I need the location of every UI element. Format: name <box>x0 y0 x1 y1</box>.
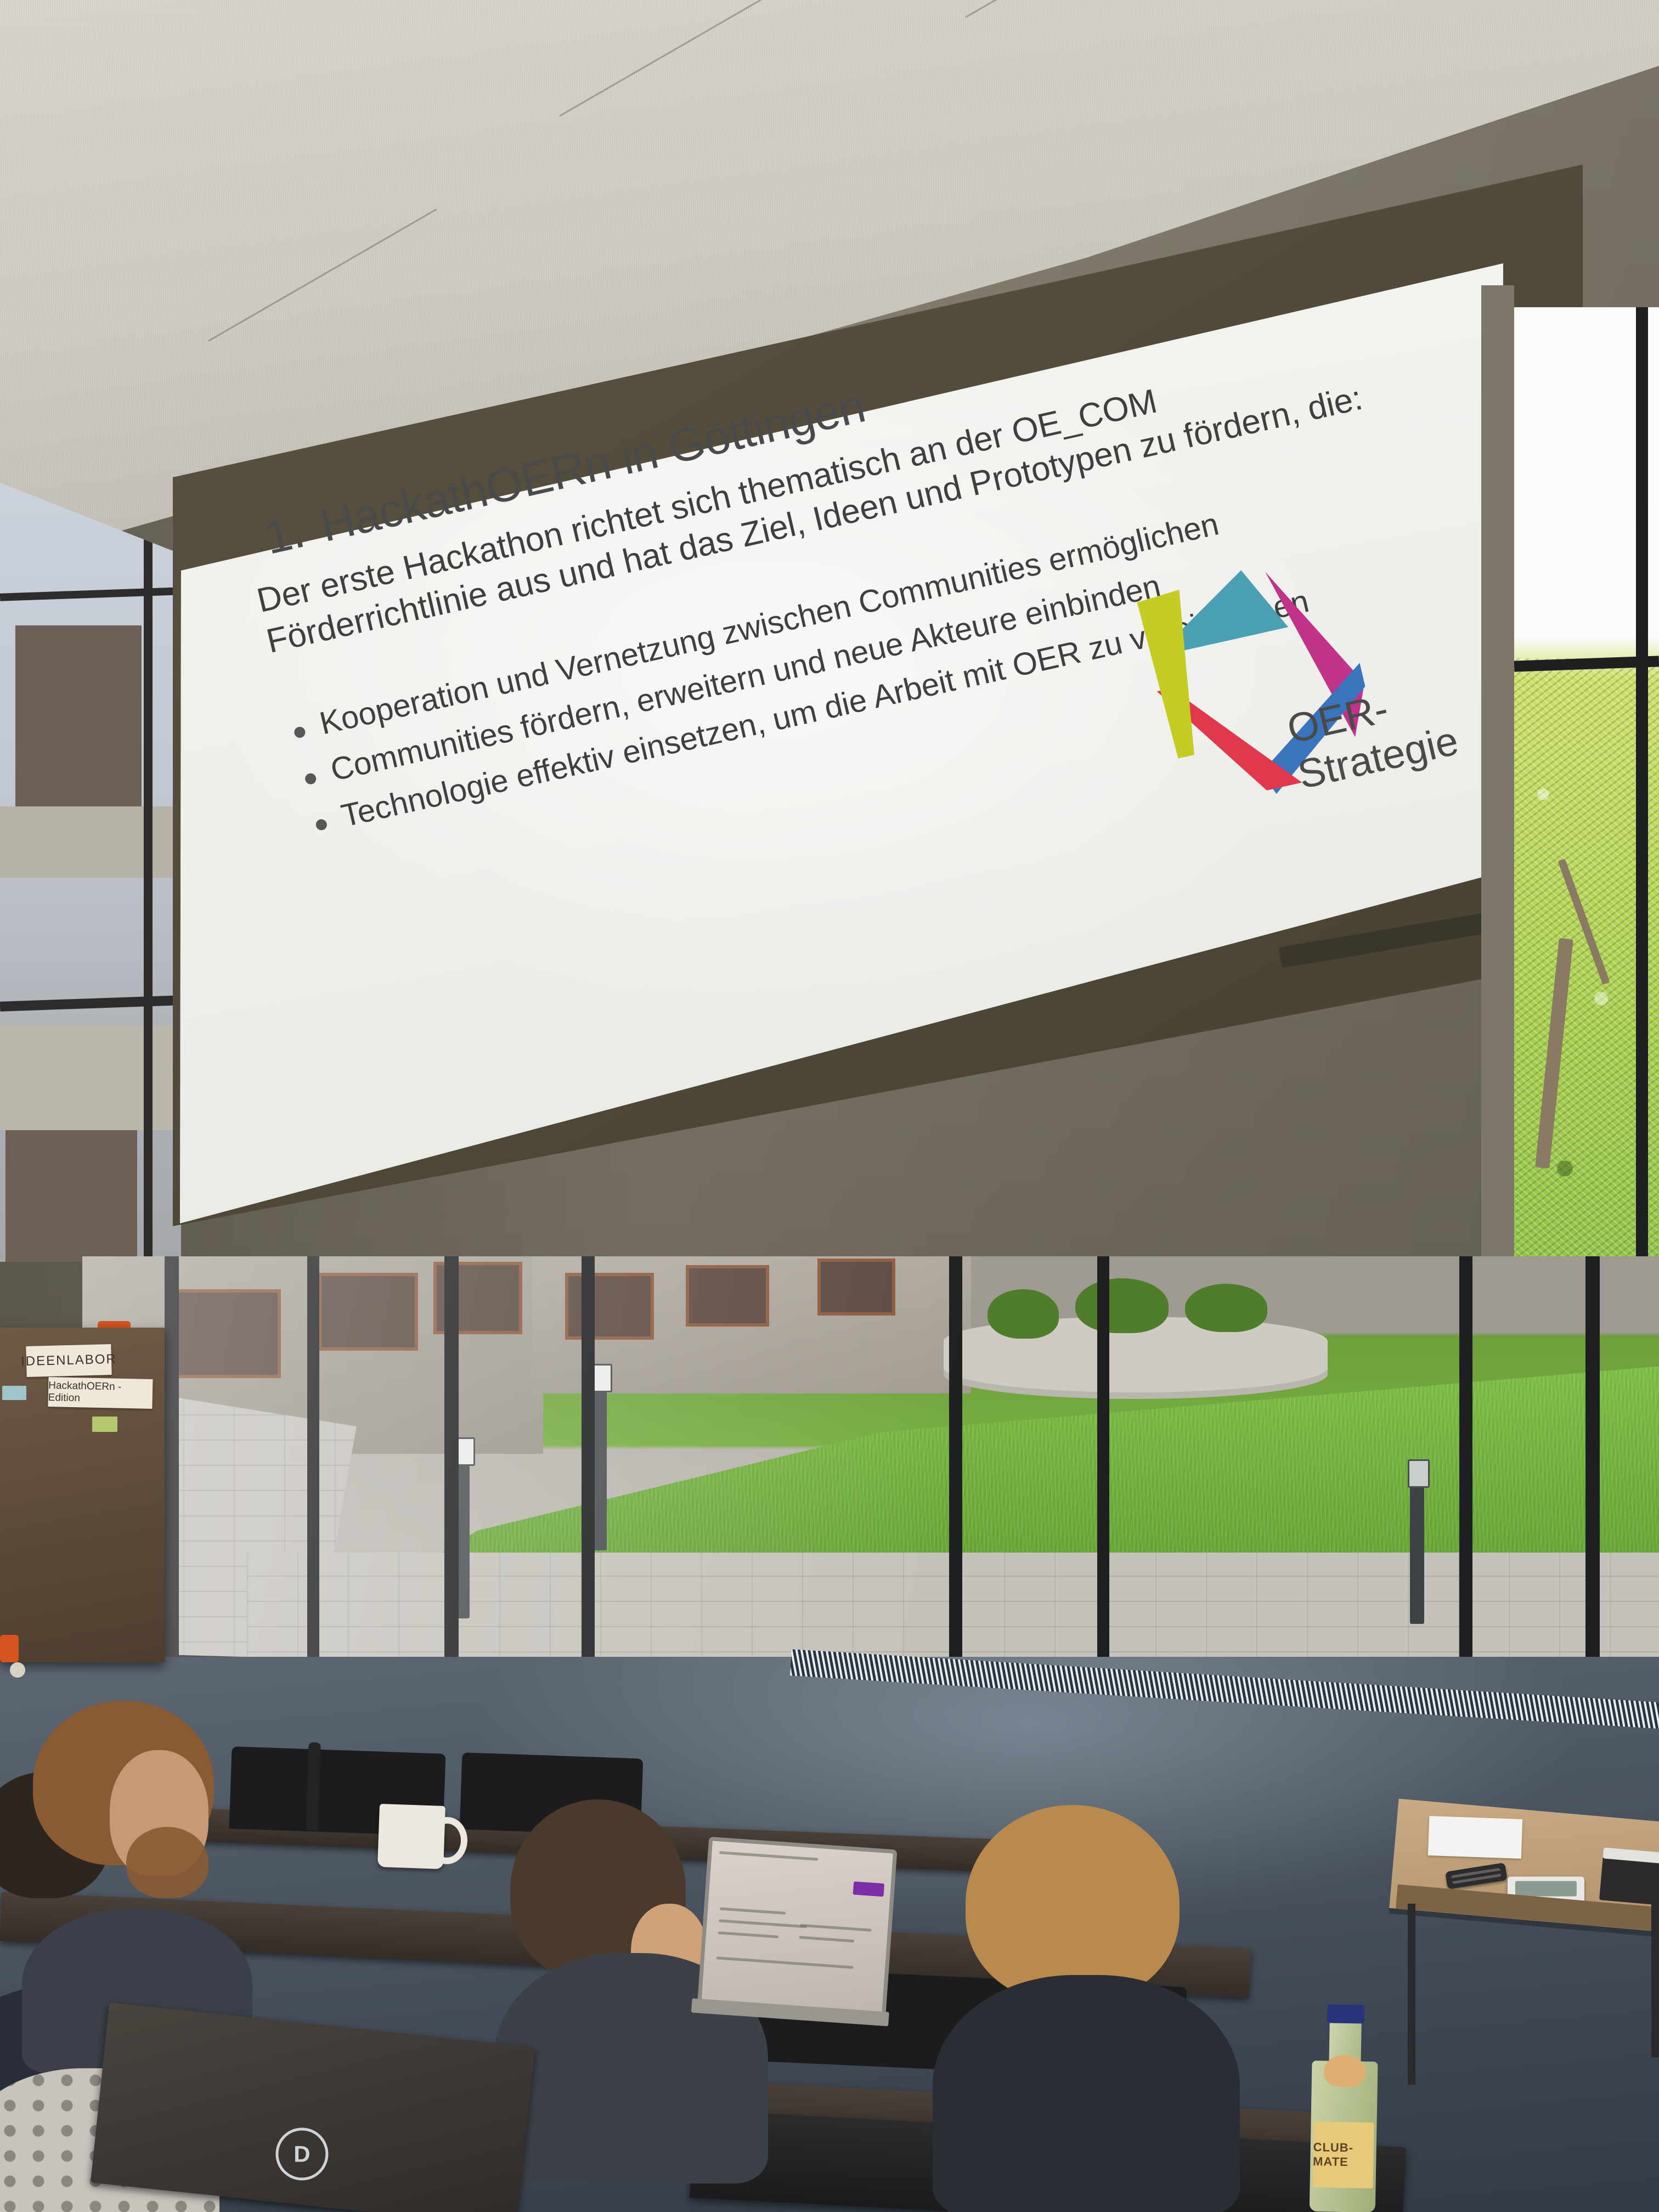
audience-person-hair <box>966 1805 1180 2002</box>
window-mullion-vertical <box>144 483 153 1262</box>
screen-text-line <box>720 1908 786 1915</box>
bullet-dot-icon <box>293 726 306 739</box>
av-touch-panel-screen[interactable] <box>1515 1881 1577 1897</box>
bottle-cap <box>1327 2004 1364 2023</box>
facade-band <box>0 1026 181 1130</box>
pinboard-sticky-note-blue <box>2 1386 26 1400</box>
dell-logo-icon: D <box>275 2128 328 2180</box>
pinboard-caster <box>10 1662 25 1678</box>
remote-keypad <box>1451 1867 1501 1884</box>
facade-band <box>0 806 181 878</box>
screen-text-line <box>799 1936 854 1943</box>
open-laptop[interactable] <box>696 1837 906 2036</box>
screen-text-line <box>800 1924 871 1932</box>
pinboard-sign-hackathoern-edition: HackathOERn - Edition <box>48 1377 153 1409</box>
screen-text-line <box>716 1956 854 1968</box>
lectern-leg <box>1408 1904 1415 2085</box>
window-frame-post <box>1481 285 1514 1361</box>
pinboard-sticky-note-green <box>92 1417 117 1432</box>
slide-title-number: 1. <box>259 505 309 565</box>
audience-person-beard <box>126 1827 208 1898</box>
club-mate-bottle[interactable]: CLUB-MATE <box>1310 2007 1379 2212</box>
av-equipment-box <box>1599 1856 1659 1906</box>
pinboard-sign-ideenlabor: IDEENLABOR <box>26 1344 111 1377</box>
pinboard: IDEENLABOR HackathOERn - Edition <box>0 1328 165 1662</box>
audience-person-shoulders <box>933 1975 1240 2212</box>
facade-window-pane <box>5 1130 137 1262</box>
lectern-leg <box>1651 1876 1659 2057</box>
bottle-neck-seal <box>1323 2055 1366 2087</box>
facade-window-pane <box>15 625 142 806</box>
lectern-paper-sheet <box>1428 1816 1522 1859</box>
screen-toolbar-line <box>719 1851 818 1861</box>
open-laptop-screen[interactable] <box>697 1837 897 2022</box>
av-equipment-lid <box>1603 1847 1659 1865</box>
bullet-dot-icon <box>304 772 317 785</box>
bottle-label-text: CLUB-MATE <box>1313 2140 1374 2170</box>
oer-strategie-logo: OER-Strategie <box>1077 449 1547 808</box>
screen-text-line <box>719 1920 806 1928</box>
bullet-dot-icon <box>315 818 328 831</box>
left-window-strip <box>0 483 181 1262</box>
photograph-scene: Hackath OERn 1.HackathOERn in Göttingen … <box>0 0 1659 2212</box>
window-mullion-vertical <box>1636 307 1648 1339</box>
av-remote-control[interactable] <box>1445 1863 1508 1889</box>
screen-text-line <box>718 1931 778 1938</box>
pinboard-corner-bracket <box>0 1635 19 1662</box>
right-window-trees <box>1514 307 1659 1339</box>
screen-accent-chip <box>853 1881 885 1897</box>
bottle-label: CLUB-MATE <box>1312 2121 1374 2188</box>
